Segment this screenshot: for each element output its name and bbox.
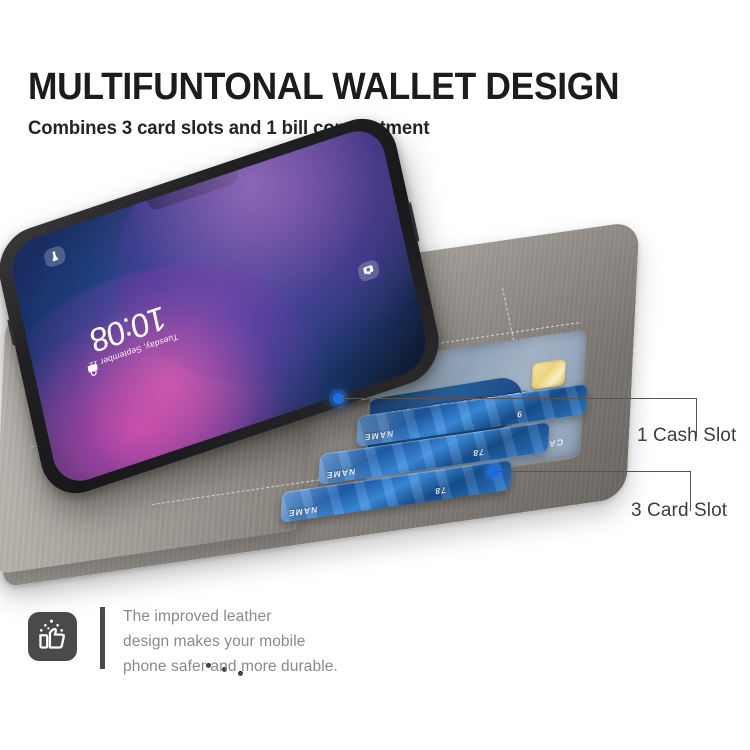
callout-label-cash-slot: 1 Cash Slot bbox=[637, 425, 736, 447]
power-button bbox=[408, 202, 420, 242]
emv-chip-icon bbox=[531, 359, 566, 390]
card-slot-leader-horizontal bbox=[496, 471, 691, 472]
flashlight-glyph bbox=[49, 249, 60, 263]
thumbs-up-glyph bbox=[28, 612, 77, 661]
footer-text: The improved leather design makes your m… bbox=[123, 603, 338, 679]
card-edge-name: NAME bbox=[325, 466, 355, 480]
cash-slot-leader-horizontal bbox=[341, 398, 697, 399]
footer-line-2: design makes your mobile bbox=[123, 629, 338, 654]
footer-line-3: phone safer and more durable. bbox=[123, 654, 338, 679]
footer-feature-note: The improved leather design makes your m… bbox=[28, 603, 338, 679]
thumbs-up-icon bbox=[28, 612, 77, 661]
card-edge-name: NAME bbox=[287, 504, 317, 518]
camera-glyph bbox=[362, 265, 374, 277]
footer-divider bbox=[100, 607, 105, 669]
page-title: MULTIFUNTONAL WALLET DESIGN bbox=[28, 66, 679, 108]
footer-line-1: The improved leather bbox=[123, 604, 338, 629]
card-edge-number: 78 bbox=[472, 447, 484, 459]
callout-label-card-slot: 3 Card Slot bbox=[631, 500, 727, 522]
flashlight-icon[interactable] bbox=[43, 244, 67, 268]
card-edge-name: NAME bbox=[363, 428, 393, 442]
card-edge-number: 9 bbox=[516, 409, 522, 420]
card-edge-number: 78 bbox=[434, 485, 446, 497]
